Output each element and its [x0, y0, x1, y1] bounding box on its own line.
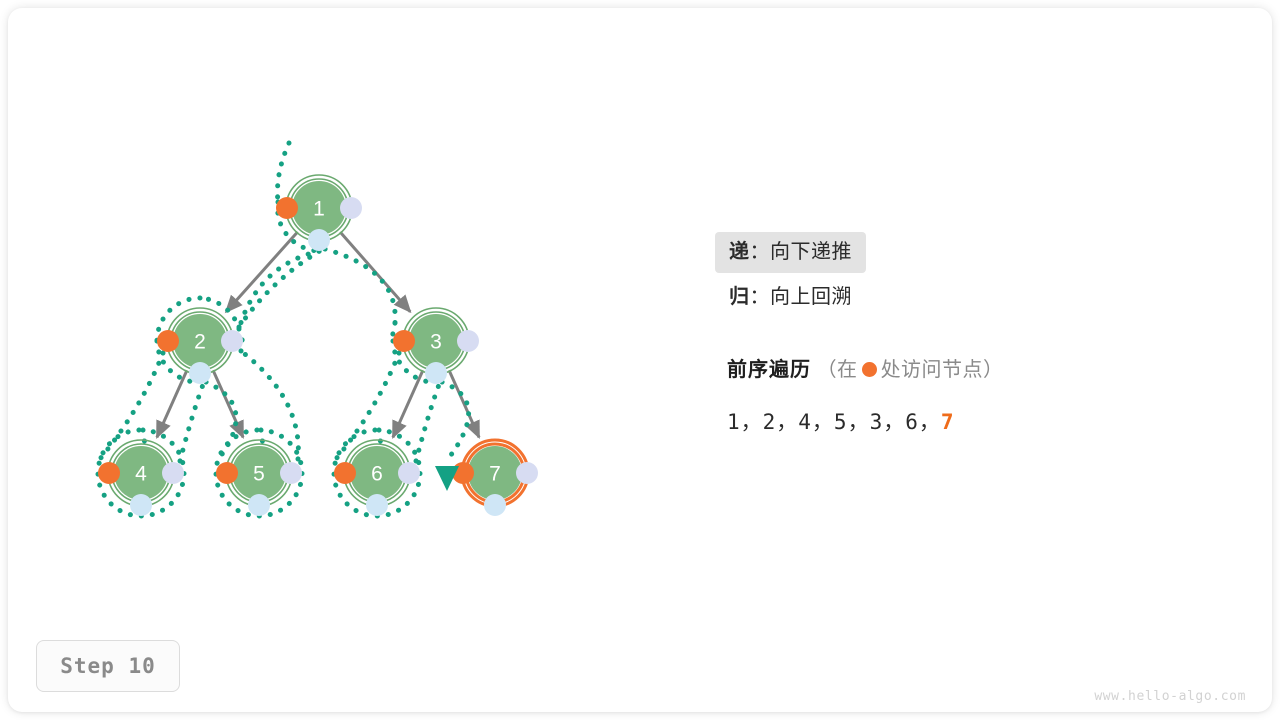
node-right-dot-icon: [398, 462, 420, 484]
node-label: 7: [489, 463, 501, 486]
node-visit-dot-icon: [157, 330, 179, 352]
tree-edge: [449, 370, 479, 437]
tree-edge: [157, 370, 187, 437]
node-bottom-dot-icon: [248, 494, 270, 516]
trace-segment: [277, 143, 289, 202]
traversal-title-prefix: （在: [817, 359, 858, 381]
traversal-title-suffix: 处访问节点）: [881, 359, 1004, 381]
figure-root: 1234567 递：向下递推 归：向上回溯 前序遍历 （在处访问节点） 1，2，…: [0, 0, 1280, 720]
node-bottom-dot-icon: [130, 494, 152, 516]
node-visit-dot-icon: [276, 197, 298, 219]
node-bottom-dot-icon: [366, 494, 388, 516]
trace-segment: [416, 382, 440, 461]
node-visit-dot-icon: [334, 462, 356, 484]
trace-segment: [206, 382, 236, 457]
orange-dot-icon: [862, 362, 877, 377]
trace-segment: [239, 251, 319, 329]
node-label: 4: [135, 463, 147, 486]
node-label: 2: [194, 331, 206, 354]
node-right-dot-icon: [280, 462, 302, 484]
node-right-dot-icon: [340, 197, 362, 219]
traversal-sequence-visited: 1，2，4，5，3，6，: [727, 410, 941, 434]
legend-backtrack-up-sep: ：: [750, 286, 771, 308]
node-label: 1: [313, 198, 325, 221]
traversal-title-strong: 前序遍历: [727, 359, 811, 381]
node-visit-dot-icon: [393, 330, 415, 352]
tree-edge: [393, 370, 423, 437]
node-label: 6: [371, 463, 383, 486]
tree-nodes: 1234567: [98, 175, 538, 516]
traversal-order-block: 前序遍历 （在处访问节点） 1，2，4，5，3，6，7: [727, 360, 1147, 436]
legend-recurse-down-sep: ：: [750, 241, 771, 263]
tree-edge: [213, 370, 243, 437]
node-bottom-dot-icon: [484, 494, 506, 516]
info-panel: 递：向下递推 归：向上回溯 前序遍历 （在处访问节点） 1，2，4，5，3，6，…: [727, 232, 1147, 436]
legend-backtrack-up-lead: 归: [729, 286, 750, 308]
node-right-dot-icon: [221, 330, 243, 352]
watermark: www.hello-algo.com: [1094, 689, 1246, 704]
trace-segment: [239, 249, 323, 327]
node-bottom-dot-icon: [425, 362, 447, 384]
traversal-title: 前序遍历 （在处访问节点）: [727, 360, 1147, 380]
legend-recurse-down-lead: 递: [729, 241, 750, 263]
node-label: 3: [430, 331, 442, 354]
legend-backtrack-up: 归：向上回溯: [715, 277, 1147, 318]
trace-segment: [442, 382, 469, 459]
legend-backtrack-up-text: 向上回溯: [770, 286, 852, 308]
node-right-dot-icon: [162, 462, 184, 484]
legend-recurse-down: 递：向下递推: [715, 232, 866, 273]
step-badge: Step 10: [36, 640, 180, 692]
node-right-dot-icon: [457, 330, 479, 352]
node-visit-dot-icon: [98, 462, 120, 484]
legend-recurse-down-text: 向下递推: [770, 241, 852, 263]
trace-segment: [325, 249, 395, 323]
traversal-sequence-current: 7: [941, 410, 955, 434]
node-visit-dot-icon: [216, 462, 238, 484]
node-right-dot-icon: [516, 462, 538, 484]
node-bottom-dot-icon: [189, 362, 211, 384]
traversal-sequence: 1，2，4，5，3，6，7: [727, 406, 1147, 436]
node-bottom-dot-icon: [308, 229, 330, 251]
trace-segment: [180, 382, 204, 461]
node-label: 5: [253, 463, 265, 486]
tree-node-7[interactable]: 7: [452, 440, 538, 516]
